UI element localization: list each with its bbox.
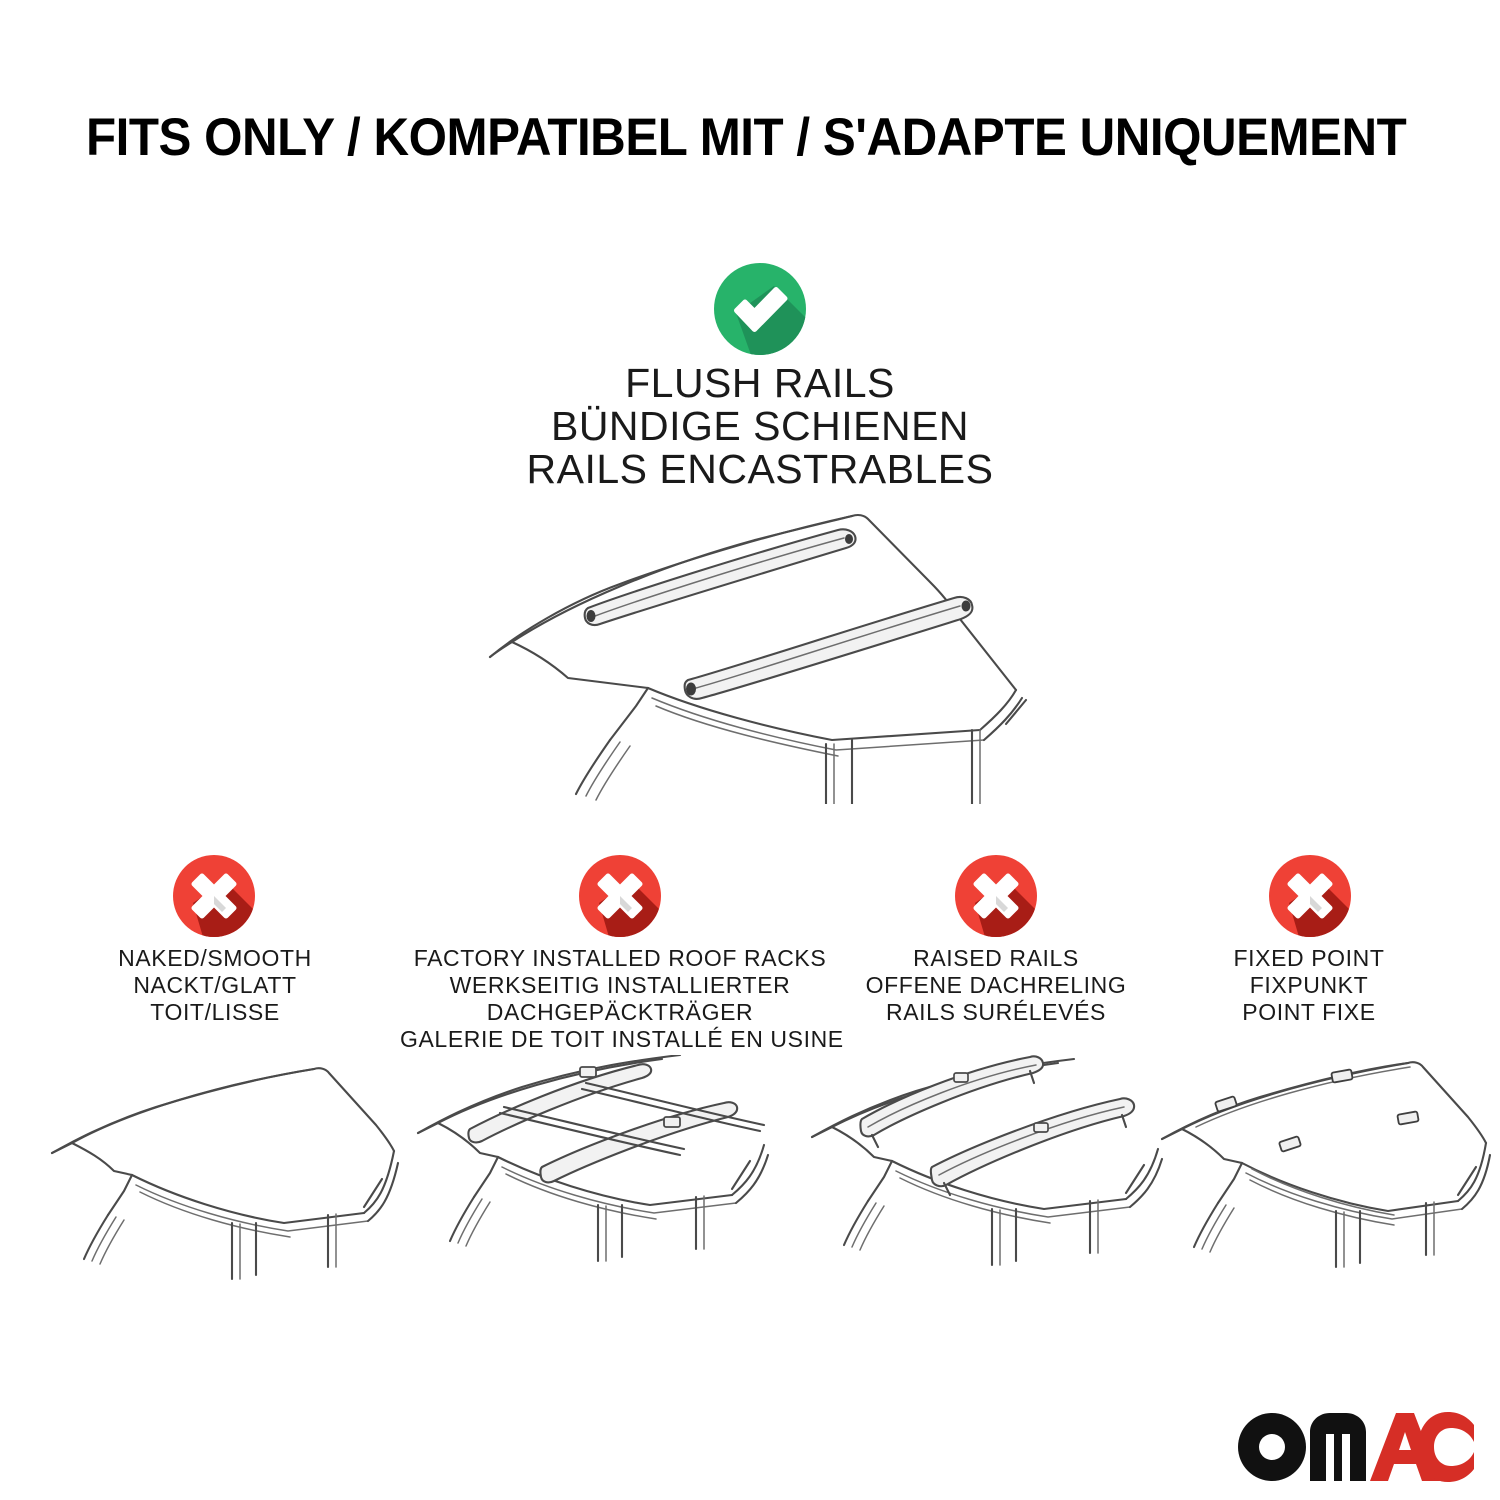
incompatible-label-raised-rails: RAISED RAILS OFFENE DACHRELING RAILS SUR… [838,945,1154,1026]
label-line-fr: RAILS SURÉLEVÉS [838,999,1154,1026]
incompatible-item-factory-roof-racks: FACTORY INSTALLED ROOF RACKS WERKSEITIG … [400,945,840,1053]
label-line-de-2: DACHGEPÄCKTRÄGER [400,999,840,1026]
label-line-de-1: WERKSEITIG INSTALLIERTER [400,972,840,999]
car-roof-raised-rails-illustration [806,1055,1196,1305]
label-line-fr: POINT FIXE [1158,999,1460,1026]
x-circle-icon [579,855,661,937]
label-line-de: FIXPUNKT [1158,972,1460,999]
compatible-label: FLUSH RAILS BÜNDIGE SCHIENEN RAILS ENCAS… [250,362,1270,491]
car-roof-fixed-point-illustration [1156,1055,1500,1305]
label-line-fr: GALERIE DE TOIT INSTALLÉ EN USINE [400,1026,840,1053]
compatibility-infographic: FITS ONLY / KOMPATIBEL MIT / S'ADAPTE UN… [0,0,1500,1500]
incompatible-label-naked-smooth: NAKED/SMOOTH NACKT/GLATT TOIT/LISSE [24,945,406,1026]
label-line-en: NAKED/SMOOTH [24,945,406,972]
x-circle-icon [173,855,255,937]
compatible-label-line-fr: RAILS ENCASTRABLES [250,448,1270,491]
compatible-label-line-en: FLUSH RAILS [250,362,1270,405]
label-line-de: NACKT/GLATT [24,972,406,999]
car-roof-with-flush-rails-illustration [460,492,1066,804]
omac-logo [1238,1412,1474,1482]
label-line-en: FACTORY INSTALLED ROOF RACKS [400,945,840,972]
incompatible-label-fixed-point: FIXED POINT FIXPUNKT POINT FIXE [1158,945,1460,1026]
incompatible-item-fixed-point: FIXED POINT FIXPUNKT POINT FIXE [1158,945,1460,1026]
page-title: FITS ONLY / KOMPATIBEL MIT / S'ADAPTE UN… [86,108,1332,168]
label-line-en: RAISED RAILS [838,945,1154,972]
label-line-de: OFFENE DACHRELING [838,972,1154,999]
label-line-en: FIXED POINT [1158,945,1460,972]
check-circle-icon [714,263,806,355]
label-line-fr: TOIT/LISSE [24,999,406,1026]
incompatible-label-factory-roof-racks: FACTORY INSTALLED ROOF RACKS WERKSEITIG … [400,945,840,1053]
incompatible-item-raised-rails: RAISED RAILS OFFENE DACHRELING RAILS SUR… [838,945,1154,1026]
x-circle-icon [955,855,1037,937]
compatible-label-line-de: BÜNDIGE SCHIENEN [250,405,1270,448]
incompatible-item-naked-smooth: NAKED/SMOOTH NACKT/GLATT TOIT/LISSE [24,945,406,1026]
car-roof-factory-installed-roof-racks-illustration [412,1055,802,1305]
x-circle-icon [1269,855,1351,937]
car-roof-naked-smooth-illustration [46,1055,416,1305]
